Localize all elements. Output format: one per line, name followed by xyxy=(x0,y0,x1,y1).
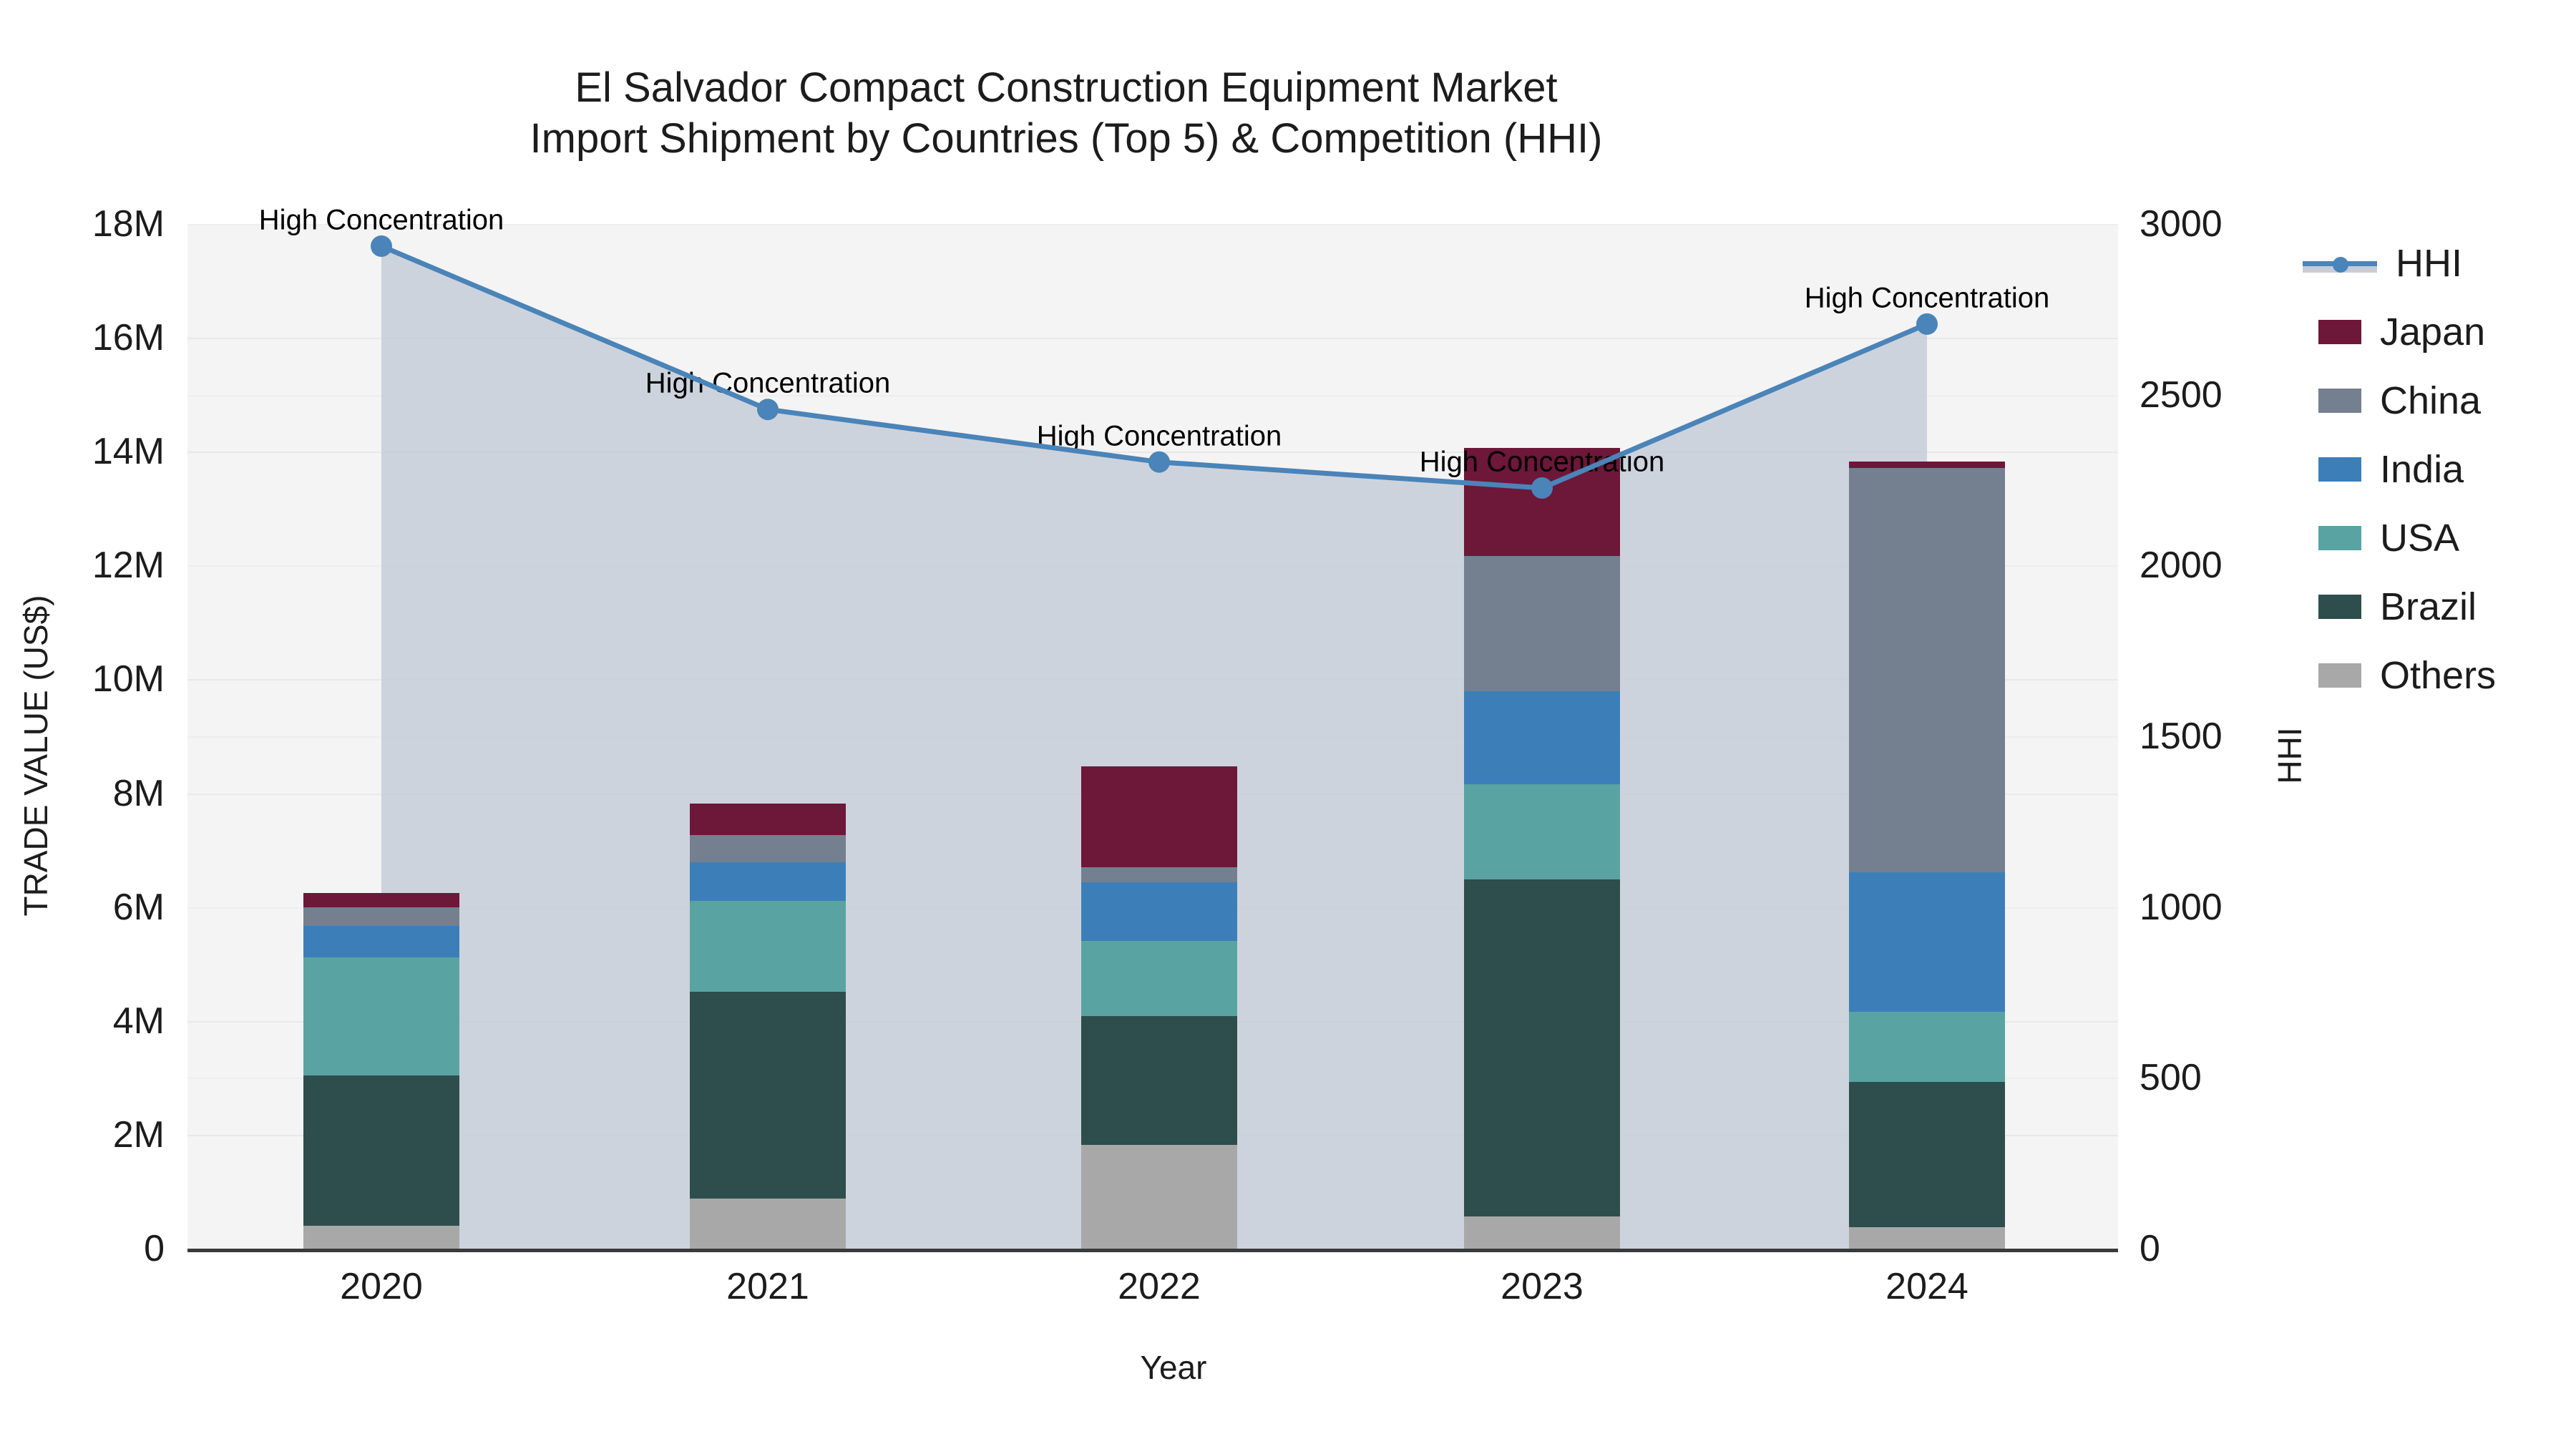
bar-segment-brazil-2020[interactable] xyxy=(303,1075,459,1226)
bar-segment-japan-2022[interactable] xyxy=(1081,766,1237,867)
x-tick-2023: 2023 xyxy=(1435,1265,1649,1308)
legend: HHIJapanChinaIndiaUSABrazilOthers xyxy=(2318,229,2562,710)
y-tick-right-2000: 2000 xyxy=(2140,544,2326,587)
legend-label: Others xyxy=(2380,656,2496,695)
legend-item-china[interactable]: China xyxy=(2318,366,2562,435)
x-tick-2021: 2021 xyxy=(660,1265,875,1308)
legend-label: USA xyxy=(2380,519,2459,557)
bar-segment-usa-2024[interactable] xyxy=(1849,1012,2005,1082)
annotation-high-concentration-2023: High Concentration xyxy=(1420,446,1664,478)
chart-title-line-2: Import Shipment by Countries (Top 5) & C… xyxy=(0,114,2132,165)
legend-line-marker-icon xyxy=(2303,251,2377,275)
legend-label: China xyxy=(2380,381,2481,420)
legend-item-india[interactable]: India xyxy=(2318,435,2562,504)
bar-segment-usa-2023[interactable] xyxy=(1464,784,1620,879)
legend-label: HHI xyxy=(2396,244,2462,283)
bar-segment-others-2020[interactable] xyxy=(303,1226,459,1249)
y-tick-left-0: 0 xyxy=(7,1227,165,1270)
bar-segment-japan-2024[interactable] xyxy=(1849,462,2005,469)
y-axis-right-label: HHI xyxy=(2270,613,2309,899)
legend-swatch-icon xyxy=(2318,663,2361,688)
bar-segment-india-2023[interactable] xyxy=(1464,691,1620,784)
bar-segment-china-2021[interactable] xyxy=(690,835,846,862)
legend-label: Japan xyxy=(2380,313,2485,351)
legend-swatch-icon xyxy=(2318,526,2361,550)
bar-group-2024[interactable] xyxy=(1849,224,2005,1249)
bar-segment-india-2024[interactable] xyxy=(1849,872,2005,1012)
bar-group-2023[interactable] xyxy=(1464,224,1620,1249)
y-tick-right-2500: 2500 xyxy=(2140,374,2326,416)
annotation-high-concentration-2024: High Concentration xyxy=(1805,282,2049,314)
x-tick-2024: 2024 xyxy=(1820,1265,2034,1308)
legend-swatch-icon xyxy=(2318,457,2361,482)
legend-swatch-icon xyxy=(2318,320,2361,344)
legend-item-japan[interactable]: Japan xyxy=(2318,298,2562,366)
legend-item-usa[interactable]: USA xyxy=(2318,504,2562,572)
bar-segment-india-2021[interactable] xyxy=(690,862,846,901)
bar-segment-brazil-2021[interactable] xyxy=(690,992,846,1199)
x-tick-2022: 2022 xyxy=(1052,1265,1267,1308)
bar-segment-brazil-2023[interactable] xyxy=(1464,879,1620,1217)
legend-swatch-icon xyxy=(2318,389,2361,413)
y-tick-left-2M: 2M xyxy=(7,1113,165,1156)
annotation-high-concentration-2020: High Concentration xyxy=(259,205,504,237)
bar-segment-japan-2021[interactable] xyxy=(690,804,846,836)
y-axis-left-label: TRADE VALUE (US$) xyxy=(16,505,55,1006)
y-tick-left-18M: 18M xyxy=(7,203,165,245)
bar-group-2020[interactable] xyxy=(303,224,459,1249)
y-tick-right-0: 0 xyxy=(2140,1227,2326,1270)
y-tick-right-500: 500 xyxy=(2140,1056,2326,1099)
y-tick-left-16M: 16M xyxy=(7,316,165,359)
legend-label: India xyxy=(2380,450,2464,489)
bar-segment-usa-2022[interactable] xyxy=(1081,941,1237,1016)
chart-title-line-1: El Salvador Compact Construction Equipme… xyxy=(575,64,1557,111)
legend-item-others[interactable]: Others xyxy=(2318,641,2562,710)
y-tick-right-3000: 3000 xyxy=(2140,203,2326,245)
legend-item-hhi[interactable]: HHI xyxy=(2318,229,2562,298)
bar-segment-india-2022[interactable] xyxy=(1081,882,1237,941)
chart-title: El Salvador Compact Construction Equipme… xyxy=(0,63,2132,165)
bar-segment-china-2023[interactable] xyxy=(1464,556,1620,691)
annotation-high-concentration-2021: High Concentration xyxy=(645,368,890,400)
bar-segment-china-2022[interactable] xyxy=(1081,867,1237,882)
bar-segment-china-2024[interactable] xyxy=(1849,468,2005,872)
bar-segment-others-2024[interactable] xyxy=(1849,1227,2005,1249)
y-tick-left-14M: 14M xyxy=(7,430,165,473)
bar-segment-india-2020[interactable] xyxy=(303,926,459,958)
bar-segment-japan-2020[interactable] xyxy=(303,893,459,908)
x-axis-spine xyxy=(187,1249,2118,1252)
bar-segment-others-2022[interactable] xyxy=(1081,1145,1237,1249)
bar-segment-usa-2021[interactable] xyxy=(690,901,846,992)
bar-segment-usa-2020[interactable] xyxy=(303,957,459,1075)
bar-segment-others-2021[interactable] xyxy=(690,1199,846,1249)
bar-segment-others-2023[interactable] xyxy=(1464,1216,1620,1249)
annotation-high-concentration-2022: High Concentration xyxy=(1037,420,1282,452)
x-tick-2020: 2020 xyxy=(274,1265,489,1308)
bar-group-2022[interactable] xyxy=(1081,224,1237,1249)
legend-swatch-icon xyxy=(2318,595,2361,619)
bar-segment-china-2020[interactable] xyxy=(303,907,459,925)
x-axis-label: Year xyxy=(959,1348,1388,1387)
bar-segment-brazil-2022[interactable] xyxy=(1081,1016,1237,1146)
bar-segment-brazil-2024[interactable] xyxy=(1849,1082,2005,1227)
legend-item-brazil[interactable]: Brazil xyxy=(2318,572,2562,641)
legend-label: Brazil xyxy=(2380,587,2477,626)
